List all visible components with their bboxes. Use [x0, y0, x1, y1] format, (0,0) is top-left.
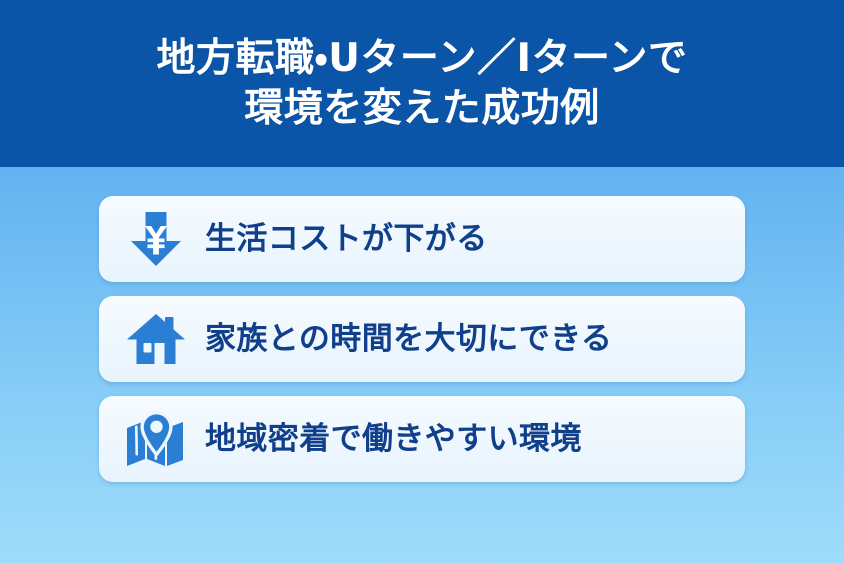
benefit-card-label: 家族との時間を大切にできる	[205, 322, 612, 356]
map-pin-icon	[125, 408, 187, 470]
benefit-card-list: 生活コストが下がる 家族との時間を大切にできる	[99, 196, 745, 482]
benefit-card-label: 生活コストが下がる	[205, 222, 488, 256]
benefit-card-label: 地域密着で働きやすい環境	[205, 422, 582, 456]
page-title-line-2: 環境を変えた成功例	[244, 84, 600, 134]
header-banner: 地方転職・Uターン／Iターンで 環境を変えた成功例	[0, 0, 844, 167]
poster-root: 地方転職・Uターン／Iターンで 環境を変えた成功例 生活コストが下がる	[0, 0, 844, 563]
house-icon	[125, 308, 187, 370]
benefit-card-local[interactable]: 地域密着で働きやすい環境	[99, 396, 745, 482]
page-title-line-1: 地方転職・Uターン／Iターンで	[156, 34, 687, 84]
benefit-card-family[interactable]: 家族との時間を大切にできる	[99, 296, 745, 382]
benefit-card-cost[interactable]: 生活コストが下がる	[99, 196, 745, 282]
yen-down-arrow-icon	[125, 208, 187, 270]
